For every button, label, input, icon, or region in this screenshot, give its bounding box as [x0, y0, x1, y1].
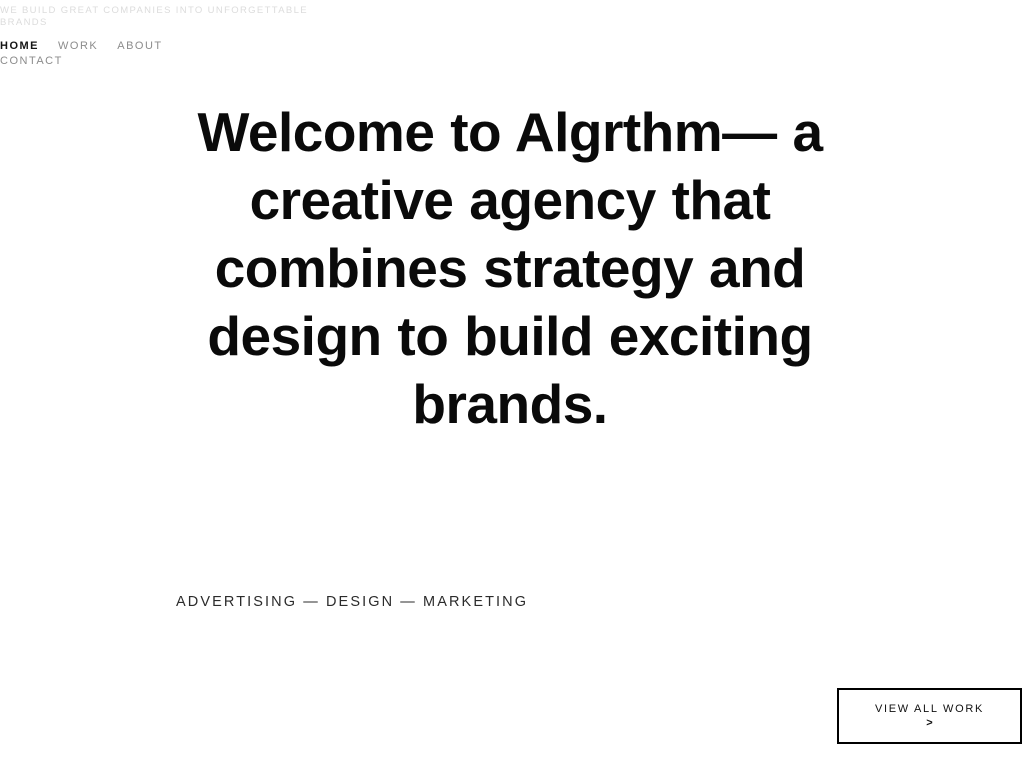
nav-item-work[interactable]: WORK [58, 40, 98, 52]
view-all-work-label: VIEW ALL WORK [875, 702, 984, 717]
nav-item-contact[interactable]: CONTACT [0, 55, 63, 67]
chevron-right-icon: > [926, 717, 932, 730]
hero-section: Welcome to Algrthm— a creative agency th… [152, 98, 868, 438]
site-tagline: WE BUILD GREAT COMPANIES INTO UNFORGETTA… [0, 5, 340, 28]
primary-nav: HOMEWORKABOUTCONTACT [0, 40, 250, 70]
nav-item-about[interactable]: ABOUT [117, 40, 162, 52]
services-list: ADVERTISING — DESIGN — MARKETING [176, 593, 528, 611]
page-title: Welcome to Algrthm— a creative agency th… [152, 98, 868, 438]
view-all-work-button[interactable]: VIEW ALL WORK > [837, 688, 1022, 744]
landing-page: WE BUILD GREAT COMPANIES INTO UNFORGETTA… [0, 0, 1024, 768]
nav-item-home[interactable]: HOME [0, 40, 39, 52]
